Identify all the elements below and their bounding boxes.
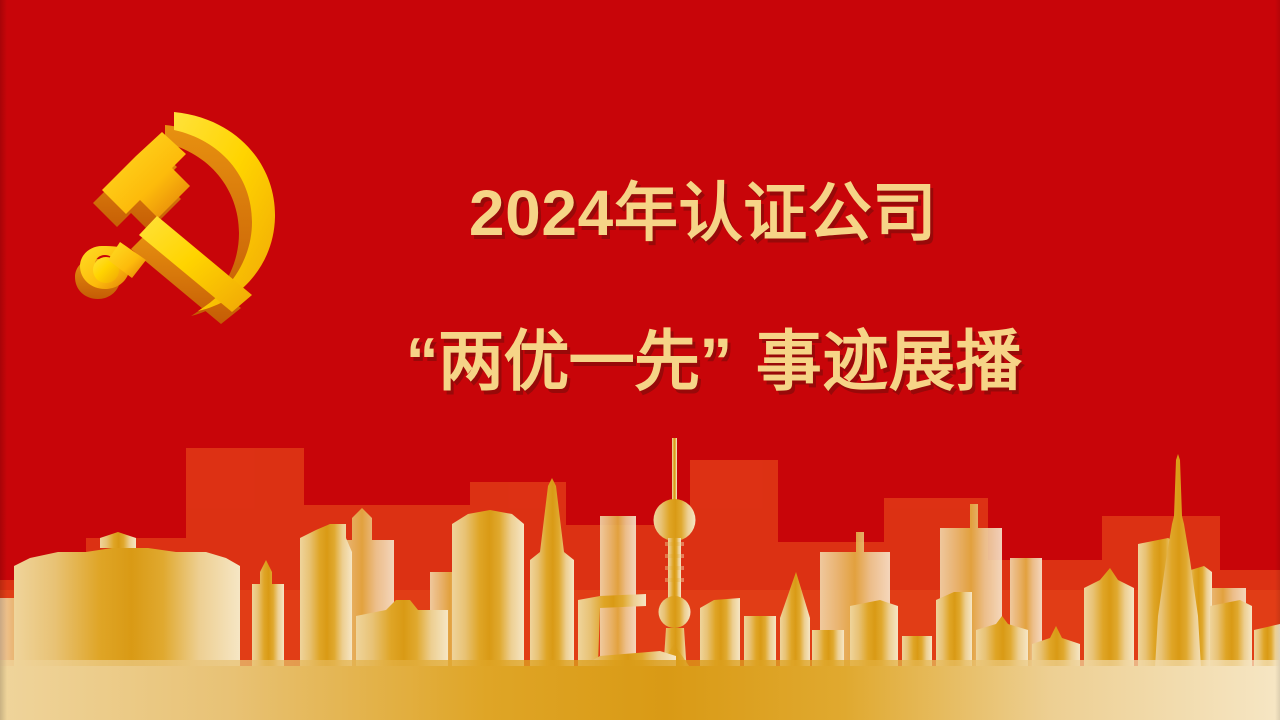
page-title-line-1: 2024年认证公司 <box>316 176 1090 250</box>
city-skyline-silhouette <box>0 420 1280 720</box>
slide-canvas: 2024年认证公司 “两优一先”事迹展播 <box>0 0 1280 720</box>
page-title-subject: 事迹展播 <box>756 324 1023 398</box>
title-block: 2024年认证公司 “两优一先”事迹展播 <box>330 176 1090 400</box>
page-title-line-2: “两优一先”事迹展播 <box>338 322 1090 400</box>
hammer-and-sickle-emblem <box>62 100 292 325</box>
page-title-quoted-phrase: “两优一先” <box>406 324 732 398</box>
